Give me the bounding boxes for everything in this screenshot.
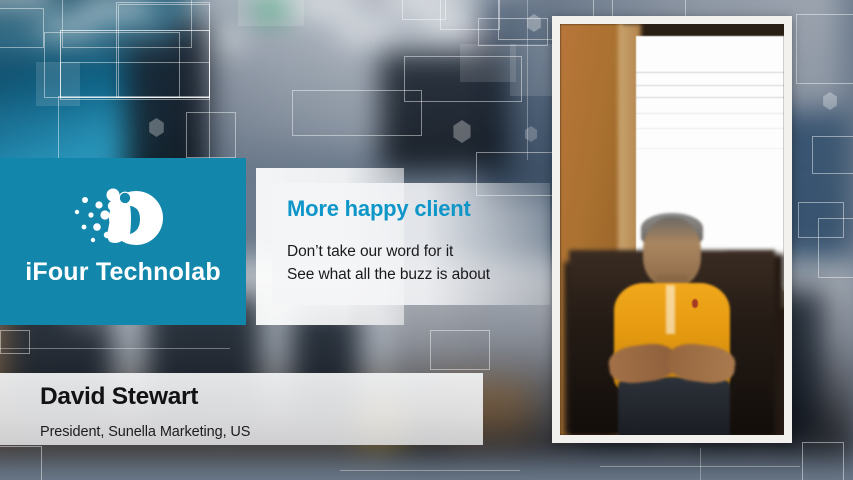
brand-name: iFour Technolab — [0, 258, 246, 287]
ifour-logo-icon — [69, 182, 177, 254]
testimonial-video[interactable] — [560, 24, 784, 435]
headline-text-block: More happy client Don’t take our word fo… — [287, 196, 587, 286]
speaker-role: President, Sunella Marketing, US — [40, 424, 250, 440]
speaker-name: David Stewart — [40, 383, 198, 411]
brand-logo-panel: iFour Technolab — [0, 158, 246, 325]
testimonial-video-frame[interactable] — [552, 16, 792, 443]
headline-title: More happy client — [287, 196, 587, 221]
headline-subline-2: See what all the buzz is about — [287, 264, 587, 286]
testimonial-slide: iFour Technolab More happy client Don’t … — [0, 0, 853, 480]
headline-subline-1: Don’t take our word for it — [287, 241, 587, 263]
